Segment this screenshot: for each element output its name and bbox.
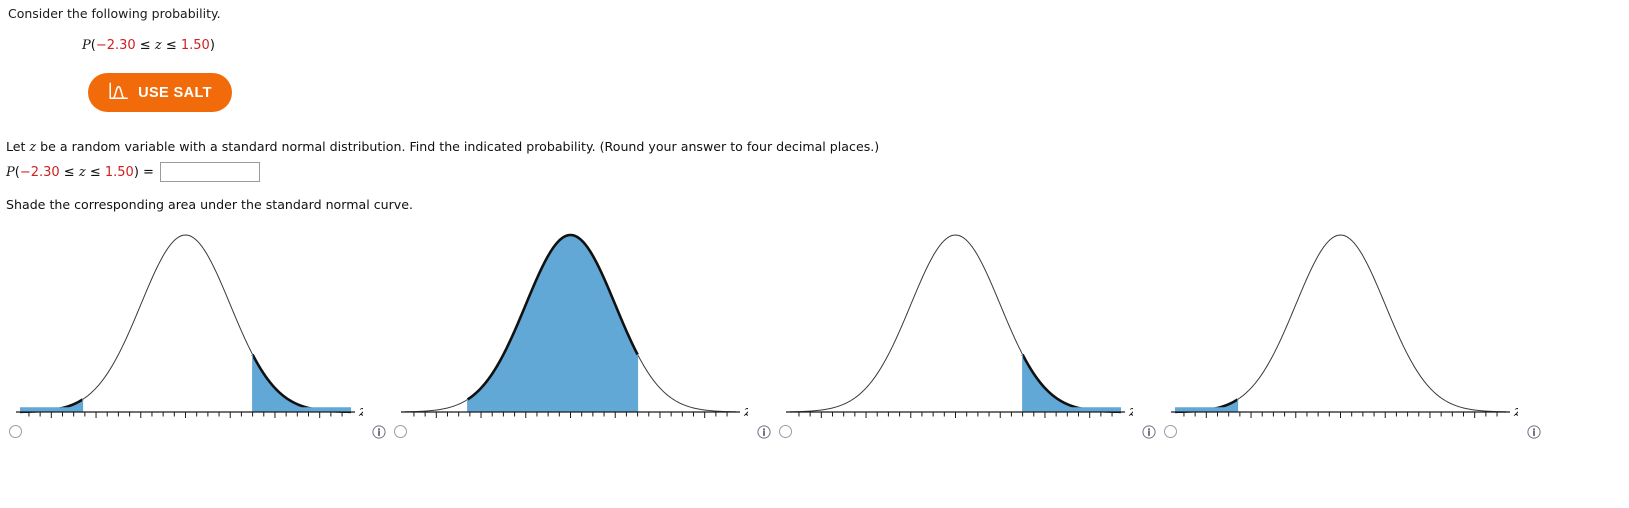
option-d-info-icon[interactable] xyxy=(1527,425,1541,439)
axis-variable-label: z xyxy=(743,402,748,420)
shade-instruction-label: Shade the corresponding area under the s… xyxy=(6,197,413,212)
prompt-intro-text: Consider the following probability. xyxy=(8,6,221,21)
probability-p-symbol: P xyxy=(82,38,91,53)
question-text: Let z be a random variable with a standa… xyxy=(6,139,879,154)
normal-curve xyxy=(20,235,351,412)
probability-close-paren: ) xyxy=(210,38,215,53)
answer-rel-2: ≤ xyxy=(86,165,105,180)
option-a-radio[interactable] xyxy=(9,425,22,438)
axis-variable-label: z xyxy=(1513,402,1518,420)
probability-upper-bound: 1.50 xyxy=(181,38,210,53)
normal-curve-icon xyxy=(108,82,129,104)
probability-rel-2: ≤ xyxy=(162,38,181,53)
probability-rel-1: ≤ xyxy=(136,38,155,53)
shaded-region xyxy=(1023,355,1121,412)
option-b-radio[interactable] xyxy=(394,425,407,438)
option-d-radio[interactable] xyxy=(1164,425,1177,438)
shaded-region xyxy=(253,355,351,412)
answer-expression: P(−2.30 ≤ z ≤ 1.50) = xyxy=(6,165,154,180)
option-d-chart[interactable]: −3−2−10123z xyxy=(1163,222,1518,422)
probability-variable: z xyxy=(155,38,162,53)
answer-options-row: −3−2−10123z −3−2−10123z −3−2−10123z xyxy=(0,222,1629,472)
prompt-intro-label: Consider the following probability. xyxy=(8,6,221,21)
option-c-radio[interactable] xyxy=(779,425,792,438)
probability-answer-input[interactable] xyxy=(160,162,260,182)
answer-row: P(−2.30 ≤ z ≤ 1.50) = xyxy=(6,162,260,182)
option-b-cell: −3−2−10123z xyxy=(385,222,785,472)
normal-curve xyxy=(1175,235,1506,412)
shaded-region xyxy=(468,235,638,412)
answer-variable: z xyxy=(79,165,86,180)
option-a-chart[interactable]: −3−2−10123z xyxy=(8,222,363,422)
option-a-info-icon[interactable] xyxy=(372,425,386,439)
probability-expression: P(−2.30 ≤ z ≤ 1.50) xyxy=(82,38,215,53)
question-text-post: be a random variable with a standard nor… xyxy=(36,139,879,154)
option-d-cell: −3−2−10123z xyxy=(1155,222,1555,472)
normal-curve xyxy=(790,235,1121,412)
use-salt-button[interactable]: USE SALT xyxy=(88,73,232,112)
option-b-info-icon[interactable] xyxy=(757,425,771,439)
answer-equals-sign: = xyxy=(139,165,154,180)
answer-upper-bound: 1.50 xyxy=(105,165,134,180)
answer-p-symbol: P xyxy=(6,165,15,180)
answer-rel-1: ≤ xyxy=(60,165,79,180)
option-c-info-icon[interactable] xyxy=(1142,425,1156,439)
option-b-chart[interactable]: −3−2−10123z xyxy=(393,222,748,422)
option-c-chart[interactable]: −3−2−10123z xyxy=(778,222,1133,422)
answer-lower-bound: −2.30 xyxy=(20,165,60,180)
option-c-cell: −3−2−10123z xyxy=(770,222,1170,472)
option-a-cell: −3−2−10123z xyxy=(0,222,400,472)
question-text-pre: Let xyxy=(6,139,29,154)
use-salt-label: USE SALT xyxy=(138,85,212,101)
axis-variable-label: z xyxy=(358,402,363,420)
shade-instruction-text: Shade the corresponding area under the s… xyxy=(6,197,413,212)
probability-lower-bound: −2.30 xyxy=(96,38,136,53)
axis-variable-label: z xyxy=(1128,402,1133,420)
